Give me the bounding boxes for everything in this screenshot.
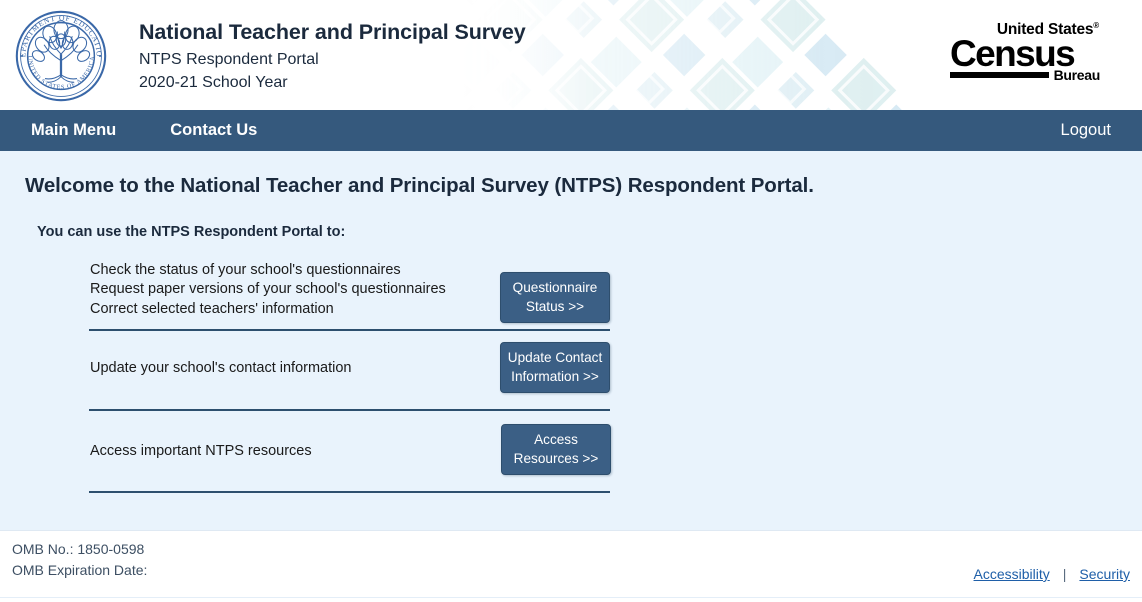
section-description: Update your school's contact information bbox=[90, 359, 362, 378]
footer-bottom-rule bbox=[0, 597, 1142, 598]
page-root: DEPARTMENT OF EDUCATION UNITED STATES OF… bbox=[0, 0, 1142, 602]
footer-link-separator: | bbox=[1063, 566, 1067, 582]
census-logo-bar bbox=[950, 72, 1049, 78]
svg-text:DEPARTMENT OF EDUCATION: DEPARTMENT OF EDUCATION bbox=[14, 9, 104, 58]
portal-usage-subheading: You can use the NTPS Respondent Portal t… bbox=[37, 224, 345, 240]
main-content: Welcome to the National Teacher and Prin… bbox=[0, 151, 1142, 530]
section-line: Access important NTPS resources bbox=[90, 442, 312, 461]
section-update-contact-information: Update your school's contact information… bbox=[89, 331, 611, 409]
section-description: Access important NTPS resources bbox=[90, 442, 322, 461]
logout-link[interactable]: Logout bbox=[1061, 121, 1111, 139]
button-label-line2: Resources >> bbox=[504, 449, 608, 468]
section-line: Correct selected teachers' information bbox=[90, 300, 446, 319]
section-line: Check the status of your school's questi… bbox=[90, 261, 446, 280]
access-resources-button[interactable]: Access Resources >> bbox=[501, 424, 611, 475]
accessibility-link[interactable]: Accessibility bbox=[974, 566, 1050, 582]
section-divider bbox=[89, 491, 610, 493]
page-title: National Teacher and Principal Survey bbox=[139, 19, 526, 45]
census-bureau-logo: United States® Census Bureau bbox=[950, 22, 1100, 82]
nav-item-main-menu[interactable]: Main Menu bbox=[31, 121, 116, 140]
button-label-line2: Status >> bbox=[503, 297, 607, 316]
dept-of-education-seal-icon: DEPARTMENT OF EDUCATION UNITED STATES OF… bbox=[14, 9, 108, 103]
main-navigation-bar: Main Menu Contact Us Logout bbox=[0, 110, 1142, 151]
security-link[interactable]: Security bbox=[1079, 566, 1130, 582]
school-year-label: 2020-21 School Year bbox=[139, 71, 526, 94]
omb-number: OMB No.: 1850-0598 bbox=[12, 539, 147, 560]
button-label-line1: Questionnaire bbox=[503, 278, 607, 297]
update-contact-information-button[interactable]: Update Contact Information >> bbox=[500, 342, 610, 393]
omb-info: OMB No.: 1850-0598 OMB Expiration Date: bbox=[12, 539, 147, 581]
footer-links: Accessibility | Security bbox=[974, 566, 1130, 582]
welcome-heading: Welcome to the National Teacher and Prin… bbox=[25, 174, 814, 198]
registered-mark-icon: ® bbox=[1093, 21, 1099, 30]
section-questionnaire-status: Check the status of your school's questi… bbox=[89, 261, 611, 329]
section-description: Check the status of your school's questi… bbox=[90, 261, 456, 319]
page-subtitle: NTPS Respondent Portal bbox=[139, 48, 526, 71]
page-footer: OMB No.: 1850-0598 OMB Expiration Date: … bbox=[0, 530, 1142, 602]
nav-item-contact-us[interactable]: Contact Us bbox=[170, 121, 257, 140]
questionnaire-status-button[interactable]: Questionnaire Status >> bbox=[500, 272, 610, 323]
omb-expiration-date: OMB Expiration Date: bbox=[12, 560, 147, 581]
census-bureau-text: Bureau bbox=[1054, 68, 1100, 82]
page-header: DEPARTMENT OF EDUCATION UNITED STATES OF… bbox=[0, 0, 1142, 110]
section-line: Update your school's contact information bbox=[90, 359, 352, 378]
action-sections: Check the status of your school's questi… bbox=[89, 261, 611, 493]
button-label-line1: Update Contact bbox=[503, 348, 607, 367]
button-label-line1: Access bbox=[504, 430, 608, 449]
button-label-line2: Information >> bbox=[503, 367, 607, 386]
section-line: Request paper versions of your school's … bbox=[90, 280, 446, 299]
section-access-resources: Access important NTPS resources Access R… bbox=[89, 411, 611, 491]
header-title-block: National Teacher and Principal Survey NT… bbox=[139, 19, 526, 94]
